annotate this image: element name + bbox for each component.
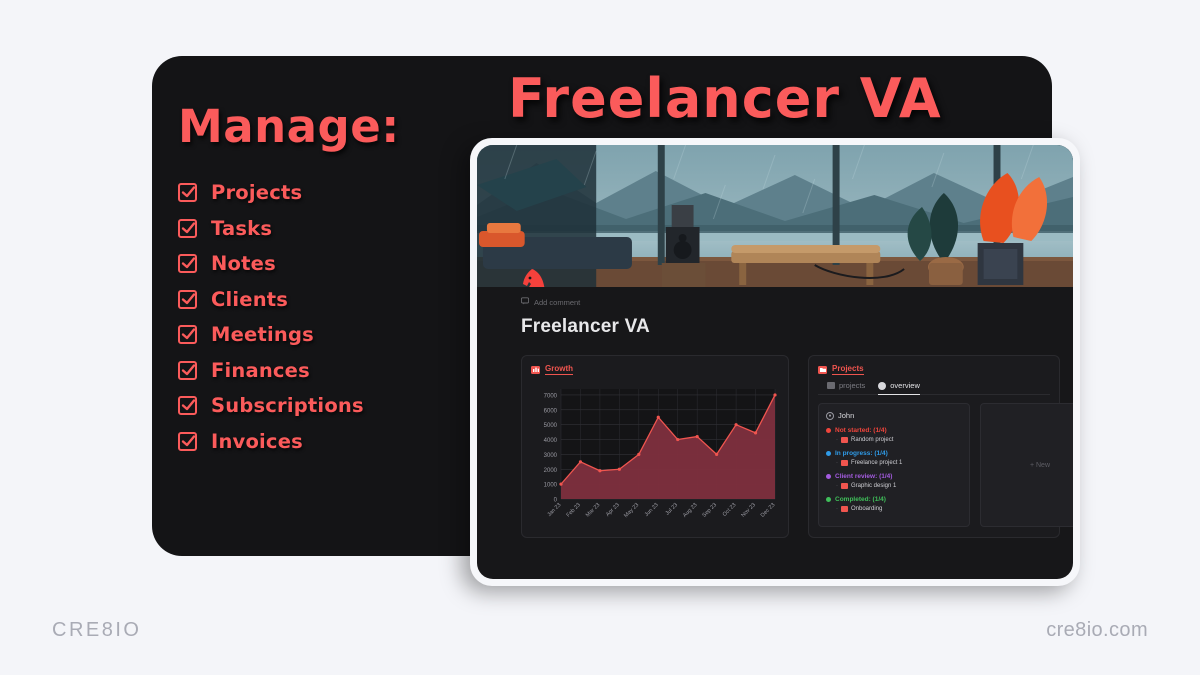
item-label: Graphic design 1 xyxy=(851,483,896,489)
checkbox-checked-icon xyxy=(178,183,197,202)
feature-label: Finances xyxy=(211,359,310,382)
item-label: Random project xyxy=(851,437,893,443)
feature-label: Meetings xyxy=(211,323,314,346)
status-group-header: In progress: (1/4) xyxy=(826,450,962,457)
list-item: Finances xyxy=(178,359,508,382)
tab-projects[interactable]: projects xyxy=(827,381,865,394)
brand-wordmark: CRE8IO xyxy=(52,619,141,642)
status-label: Completed: (1/4) xyxy=(835,496,886,503)
status-dot xyxy=(826,451,831,456)
projects-tabs: projects overview xyxy=(818,381,1050,395)
board-column-john: ● John Not started: (1/4) · xyxy=(818,403,970,527)
status-group: Client review: (1/4) · Graphic design 1 xyxy=(826,473,962,489)
status-dot xyxy=(826,497,831,502)
list-item[interactable]: · Freelance project 1 xyxy=(826,460,962,466)
status-group: Not started: (1/4) · Random project xyxy=(826,427,962,443)
feature-label: Tasks xyxy=(211,217,272,240)
svg-text:Aug 23: Aug 23 xyxy=(682,502,699,519)
manage-heading: Manage: xyxy=(178,100,508,153)
clock-icon xyxy=(878,382,886,390)
list-item: Invoices xyxy=(178,430,508,453)
svg-text:Mar 23: Mar 23 xyxy=(585,502,601,518)
folder-icon xyxy=(818,366,827,374)
cabin-scene-illustration xyxy=(477,145,1073,287)
list-item: Meetings xyxy=(178,323,508,346)
checkbox-checked-icon xyxy=(178,325,197,344)
item-label: Freelance project 1 xyxy=(851,460,902,466)
svg-text:1000: 1000 xyxy=(544,483,558,489)
page-icon xyxy=(841,460,848,466)
growth-panel-header: Growth xyxy=(531,364,779,375)
board-column-new: + New xyxy=(980,403,1073,527)
checkbox-checked-icon xyxy=(178,290,197,309)
svg-text:Sep 23: Sep 23 xyxy=(701,502,718,519)
svg-text:Nov 23: Nov 23 xyxy=(740,502,757,519)
folder-icon xyxy=(827,382,835,389)
cover-illustration xyxy=(477,145,1073,287)
comment-icon xyxy=(521,297,529,307)
svg-text:Dec 23: Dec 23 xyxy=(760,502,777,519)
promo-left-column: Manage: Projects Tasks Notes Clients xyxy=(178,100,508,465)
document-title: Freelancer VA xyxy=(521,316,1055,338)
svg-text:Jan 23: Jan 23 xyxy=(546,502,562,518)
tab-label: projects xyxy=(839,381,865,390)
page-title: Freelancer VA xyxy=(508,67,942,130)
page-icon xyxy=(841,483,848,489)
user-name: John xyxy=(838,411,854,420)
list-item: Subscriptions xyxy=(178,394,508,417)
brand-website: cre8io.com xyxy=(1046,619,1148,642)
status-dot xyxy=(826,428,831,433)
add-comment-label: Add comment xyxy=(534,298,580,307)
feature-label: Projects xyxy=(211,181,302,204)
tab-label: overview xyxy=(890,381,920,390)
chart-icon xyxy=(531,366,540,374)
feature-label: Subscriptions xyxy=(211,394,364,417)
svg-text:2000: 2000 xyxy=(544,468,558,474)
svg-text:Jun 23: Jun 23 xyxy=(644,502,660,518)
status-group-header: Client review: (1/4) xyxy=(826,473,962,480)
bullet-icon: · xyxy=(836,437,838,443)
checkbox-checked-icon xyxy=(178,361,197,380)
bullet-icon: · xyxy=(836,483,838,489)
new-item-button[interactable]: + New xyxy=(1030,462,1050,469)
svg-text:Oct 23: Oct 23 xyxy=(722,502,738,518)
svg-text:Feb 23: Feb 23 xyxy=(566,502,582,518)
svg-text:7000: 7000 xyxy=(544,393,558,399)
svg-text:4000: 4000 xyxy=(544,438,558,444)
list-item: Tasks xyxy=(178,217,508,240)
svg-text:6000: 6000 xyxy=(544,408,558,414)
checkbox-checked-icon xyxy=(178,254,197,273)
growth-chart: 01000200030004000500060007000Jan 23Feb 2… xyxy=(531,381,779,529)
item-label: Onboarding xyxy=(851,506,882,512)
status-group: In progress: (1/4) · Freelance project 1 xyxy=(826,450,962,466)
checkbox-checked-icon xyxy=(178,432,197,451)
growth-area-chart: 01000200030004000500060007000Jan 23Feb 2… xyxy=(531,381,781,529)
status-group-header: Completed: (1/4) xyxy=(826,496,962,503)
feature-label: Clients xyxy=(211,288,288,311)
app-page-body: Add comment Freelancer VA Growth 0100020… xyxy=(477,287,1073,538)
projects-panel-header: Projects xyxy=(818,364,1050,375)
avatar-icon: ● xyxy=(826,412,834,420)
list-item[interactable]: · Onboarding xyxy=(826,506,962,512)
growth-panel: Growth 01000200030004000500060007000Jan … xyxy=(521,355,789,538)
status-label: Client review: (1/4) xyxy=(835,473,892,480)
status-label: In progress: (1/4) xyxy=(835,450,888,457)
status-group: Completed: (1/4) · Onboarding xyxy=(826,496,962,512)
svg-text:5000: 5000 xyxy=(544,423,558,429)
feature-list: Projects Tasks Notes Clients Meetings xyxy=(178,181,508,453)
projects-panel: Projects projects overview xyxy=(808,355,1060,538)
list-item: Notes xyxy=(178,252,508,275)
checkbox-checked-icon xyxy=(178,396,197,415)
projects-board: ● John Not started: (1/4) · xyxy=(818,403,1050,527)
list-item: Clients xyxy=(178,288,508,311)
page-icon xyxy=(841,437,848,443)
svg-text:Apr 23: Apr 23 xyxy=(605,502,621,518)
feature-label: Invoices xyxy=(211,430,303,453)
list-item[interactable]: · Graphic design 1 xyxy=(826,483,962,489)
chess-knight-icon xyxy=(519,267,549,287)
list-item: Projects xyxy=(178,181,508,204)
status-dot xyxy=(826,474,831,479)
list-item[interactable]: · Random project xyxy=(826,437,962,443)
bullet-icon: · xyxy=(836,460,838,466)
tablet-mockup: Add comment Freelancer VA Growth 0100020… xyxy=(470,138,1080,586)
status-label: Not started: (1/4) xyxy=(835,427,887,434)
add-comment-button[interactable]: Add comment xyxy=(521,297,1055,307)
svg-text:May 23: May 23 xyxy=(623,502,640,519)
tab-overview[interactable]: overview xyxy=(878,381,920,394)
svg-text:Jul 23: Jul 23 xyxy=(665,502,680,517)
status-group-header: Not started: (1/4) xyxy=(826,427,962,434)
growth-panel-title: Growth xyxy=(545,364,573,375)
svg-text:3000: 3000 xyxy=(544,453,558,459)
checkbox-checked-icon xyxy=(178,219,197,238)
projects-panel-title: Projects xyxy=(832,364,864,375)
bullet-icon: · xyxy=(836,506,838,512)
panels-row: Growth 01000200030004000500060007000Jan … xyxy=(521,355,1055,538)
feature-label: Notes xyxy=(211,252,276,275)
board-column-user: ● John xyxy=(826,411,962,420)
page-icon xyxy=(841,506,848,512)
app-screen: Add comment Freelancer VA Growth 0100020… xyxy=(477,145,1073,579)
